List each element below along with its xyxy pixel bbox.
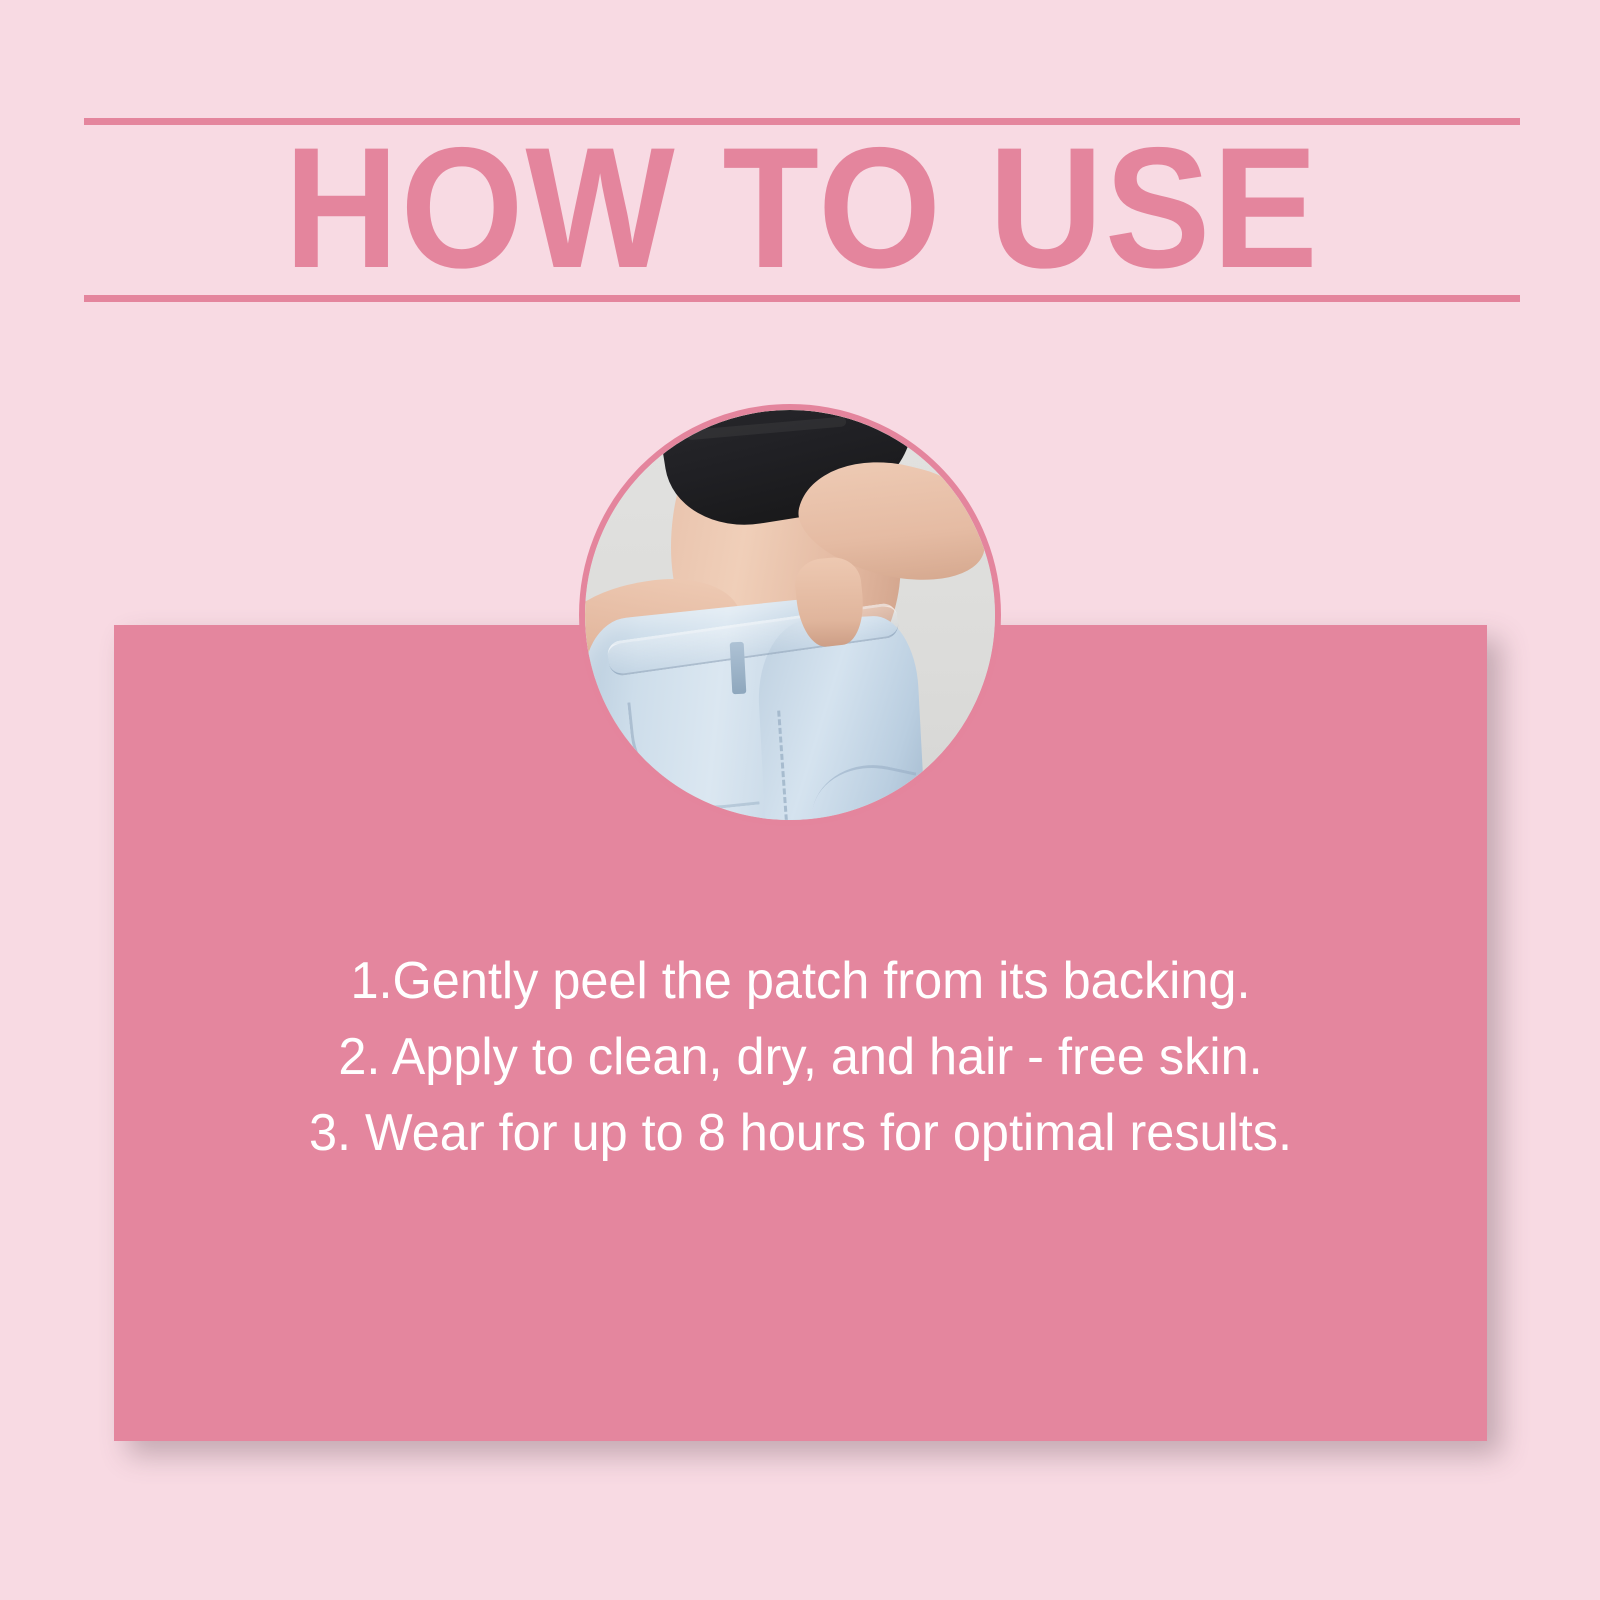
photo-jeans-belt-loop [730,642,747,695]
instruction-step-2: 2. Apply to clean, dry, and hair - free … [135,1019,1467,1095]
hero-photo-circle [579,404,1001,826]
hero-photo-image [585,410,995,820]
instruction-list: 1.Gently peel the patch from its backing… [135,943,1467,1171]
header-bottom-rule [84,295,1520,302]
instruction-step-3: 3. Wear for up to 8 hours for optimal re… [135,1095,1467,1171]
header-block: HOW TO USE [84,118,1520,302]
instruction-step-1: 1.Gently peel the patch from its backing… [135,943,1467,1019]
page-title: HOW TO USE [141,122,1462,295]
